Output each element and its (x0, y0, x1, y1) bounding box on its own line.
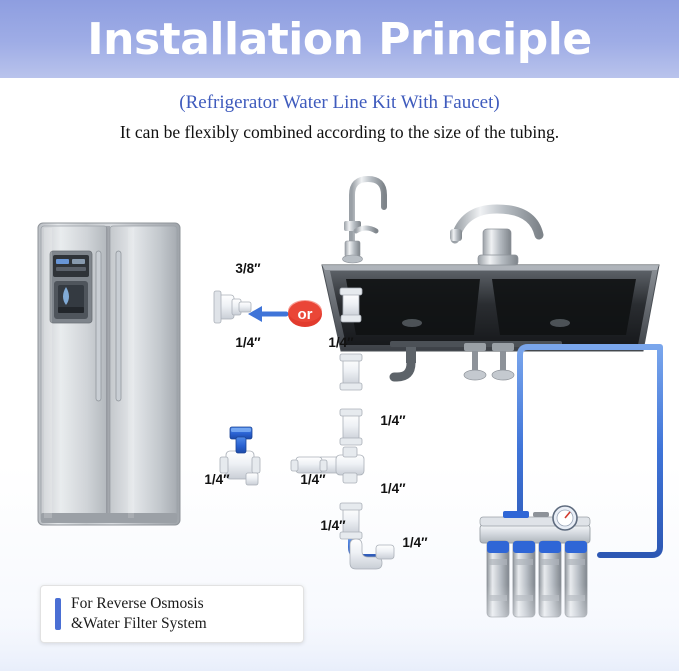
label-adapter-top: 3/8″ (235, 261, 261, 276)
kitchen-faucet (450, 209, 539, 265)
installation-principle-infographic: Installation Principle (Refrigerator Wat… (0, 0, 679, 671)
footer-text: For Reverse Osmosis &Water Filter System (71, 594, 297, 634)
label-faucet-stem: 1/4″ (328, 335, 354, 350)
refrigerator-illustration (38, 223, 180, 525)
swap-arrow (248, 306, 286, 322)
straight-connector-faucet (340, 288, 362, 322)
page-subtitle: (Refrigerator Water Line Kit With Faucet… (0, 92, 679, 114)
or-badge: or (288, 300, 322, 327)
reducer-adapter-fitting (214, 291, 251, 323)
page-title: Installation Principle (0, 16, 679, 64)
ro-drinking-faucet (343, 179, 385, 263)
footer-accent-bar (55, 598, 61, 630)
page-tagline: It can be flexibly combined according to… (0, 122, 679, 143)
tee-fitting-upper (340, 354, 362, 390)
straight-connector-horizontal (291, 457, 327, 473)
label-elbow-right: 1/4″ (402, 535, 428, 550)
tee-fitting-junction (336, 447, 364, 483)
or-badge-label: or (298, 306, 313, 323)
footer-line-1: For Reverse Osmosis (71, 594, 297, 614)
footer-line-2: &Water Filter System (71, 614, 297, 634)
label-tee-lower: 1/4″ (320, 518, 346, 533)
label-fridge-line: 1/4″ (204, 472, 230, 487)
label-tee-mid: 1/4″ (380, 481, 406, 496)
label-valve-out: 1/4″ (300, 472, 326, 487)
footer-badge: For Reverse Osmosis &Water Filter System (40, 585, 304, 643)
label-tee-upper: 1/4″ (380, 413, 406, 428)
label-adapter-bottom: 1/4″ (235, 335, 261, 350)
